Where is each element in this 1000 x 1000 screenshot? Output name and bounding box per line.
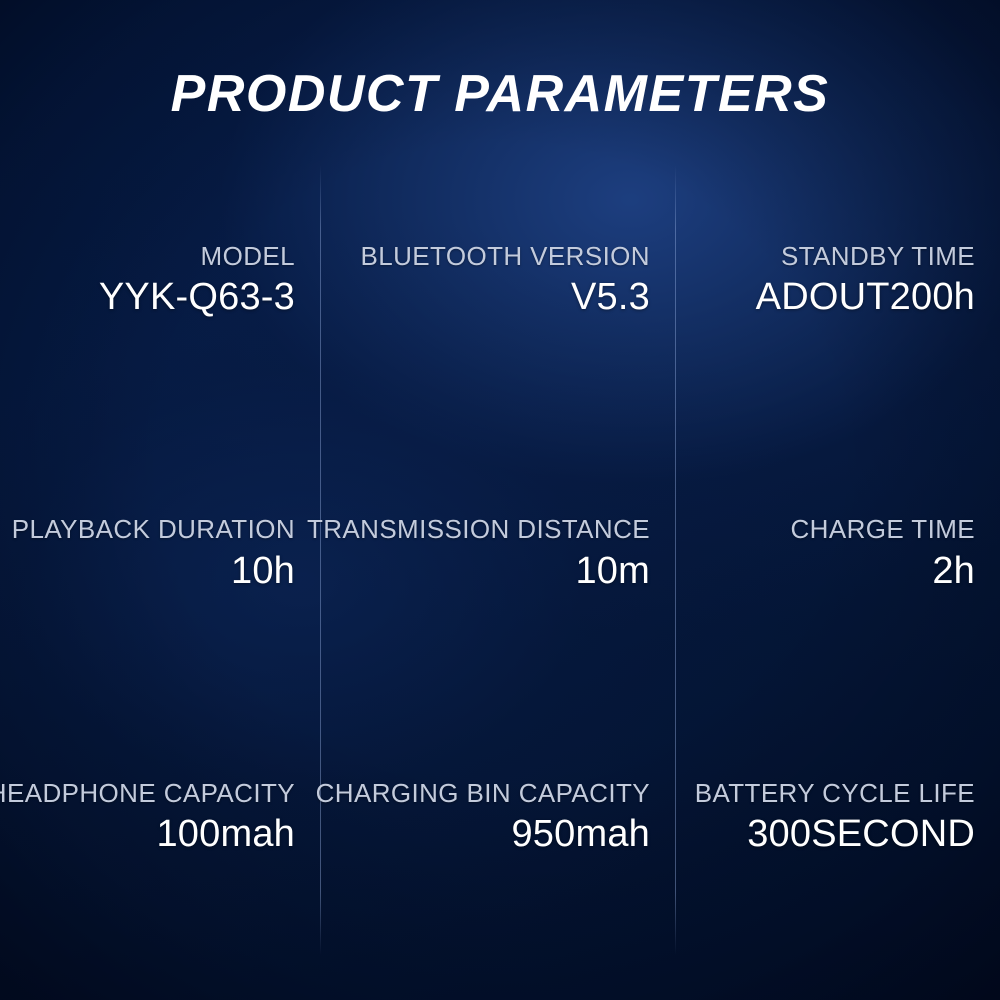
spec-cell-playback-duration: PLAYBACK DURATION 10h [0,428,320,691]
spec-cell-standby-time: STANDBY TIME ADOUT200h [675,165,1000,428]
page-title: PRODUCT PARAMETERS [0,68,1000,120]
spec-value: 300SECOND [747,813,975,857]
spec-cell-charge-time: CHARGE TIME 2h [675,428,1000,691]
spec-label: STANDBY TIME [781,243,975,270]
spec-cell-headphone-capacity: HEADPHONE CAPACITY 100mah [0,692,320,955]
spec-label: CHARGE TIME [791,516,976,543]
spec-value: 100mah [156,813,295,857]
spec-label: BATTERY CYCLE LIFE [695,780,975,807]
spec-value: V5.3 [571,276,650,320]
spec-label: PLAYBACK DURATION [12,516,295,543]
spec-label: MODEL [201,243,295,270]
spec-label: CHARGING BIN CAPACITY [316,780,650,807]
spec-label: TRANSMISSION DISTANCE [307,516,650,543]
spec-cell-transmission-distance: TRANSMISSION DISTANCE 10m [320,428,675,691]
spec-cell-battery-cycle-life: BATTERY CYCLE LIFE 300SECOND [675,692,1000,955]
spec-label: BLUETOOTH VERSION [361,243,651,270]
spec-value: YYK-Q63-3 [99,276,295,320]
spec-value: 10h [231,550,295,594]
spec-cell-charging-bin-capacity: CHARGING BIN CAPACITY 950mah [320,692,675,955]
product-parameters-banner: PRODUCT PARAMETERS MODEL YYK-Q63-3 BLUET… [0,0,1000,1000]
spec-value: 10m [575,550,650,594]
spec-value: 950mah [511,813,650,857]
spec-cell-bluetooth-version: BLUETOOTH VERSION V5.3 [320,165,675,428]
spec-value: 2h [932,550,975,594]
spec-grid: MODEL YYK-Q63-3 BLUETOOTH VERSION V5.3 S… [0,165,1000,955]
spec-label: HEADPHONE CAPACITY [0,780,295,807]
spec-value: ADOUT200h [756,276,975,320]
spec-cell-model: MODEL YYK-Q63-3 [0,165,320,428]
